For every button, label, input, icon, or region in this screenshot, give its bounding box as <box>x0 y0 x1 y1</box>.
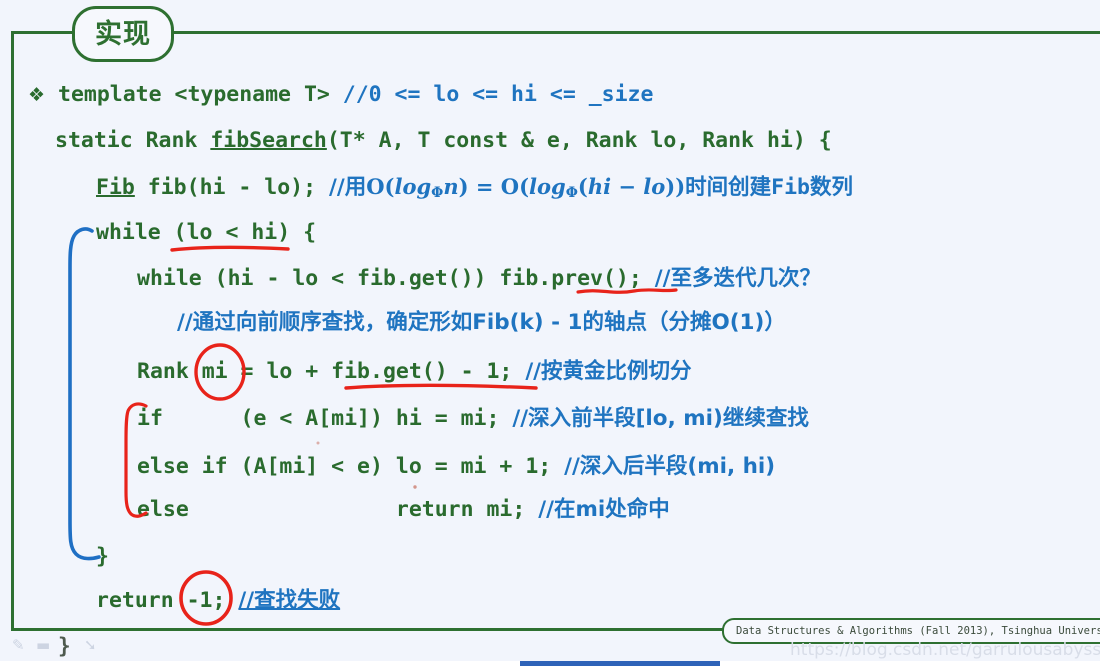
comment-text: //至多迭代几次？ <box>655 266 821 291</box>
code-line-return: return -1; //查找失败 <box>96 590 340 612</box>
bottom-progress-bar <box>520 661 720 666</box>
code-text: Rank mi = lo + fib.get() - 1; <box>137 359 525 384</box>
code-line-close-brace: } <box>96 546 109 568</box>
code-line-template: ❖ template <typename T> //0 <= lo <= hi … <box>28 84 653 106</box>
code-line-else-if: else if (A[mi] < e) lo = mi + 1; //深入后半段… <box>137 456 775 478</box>
code-text: while (lo < hi) { <box>96 220 316 245</box>
comment-text: //按黄金比例切分 <box>525 359 691 384</box>
csdn-watermark: https://blog.csdn.net/garrulousabyss <box>790 640 1100 660</box>
comment-text: //深入前半段[lo, mi)继续查找 <box>512 406 808 431</box>
code-line-rank-mi: Rank mi = lo + fib.get() - 1; //按黄金比例切分 <box>137 361 692 383</box>
pen-icon[interactable]: ✎ <box>12 636 25 654</box>
code-line-while-outer: while (lo < hi) { <box>96 222 316 244</box>
code-text: else return mi; <box>137 497 538 522</box>
code-text: } <box>96 544 109 569</box>
pointer-icon[interactable]: ➘ <box>84 636 97 654</box>
slide-canvas: 实现 ❖ template <typename T> //0 <= lo <= … <box>0 0 1100 666</box>
comment-text: //0 <= lo <= hi <= _size <box>343 82 654 107</box>
code-line-comment-pivot: //通过向前顺序查找，确定形如Fib(k) - 1的轴点（分摊O(1)） <box>177 312 786 334</box>
comment-text: //查找失败 <box>238 588 340 613</box>
code-text: (T* A, T const & e, Rank lo, Rank hi) { <box>327 128 832 153</box>
code-text: while (hi - lo < fib.get()) fib.prev(); <box>137 266 655 291</box>
comment-text: //在mi处命中 <box>538 497 669 522</box>
comment-fib-complexity: //用O(logΦn) = O(logΦ(hi − lo))时间创建Fib数列 <box>329 175 853 200</box>
eraser-icon[interactable]: ▬ <box>36 636 50 654</box>
code-text: static Rank <box>55 128 210 153</box>
comment-text: //通过向前顺序查找，确定形如Fib(k) - 1的轴点（分摊O(1)） <box>177 310 786 335</box>
code-line-if: if (e < A[mi]) hi = mi; //深入前半段[lo, mi)继… <box>137 408 809 430</box>
code-line-fib-decl: Fib fib(hi - lo); //用O(logΦn) = O(logΦ(h… <box>96 176 853 200</box>
code-text: fib(hi - lo); <box>135 175 329 200</box>
code-text: return -1; <box>96 588 238 613</box>
bullet-diamond-icon: ❖ <box>28 84 45 106</box>
code-text: if (e < A[mi]) hi = mi; <box>137 406 512 431</box>
code-line-while-inner: while (hi - lo < fib.get()) fib.prev(); … <box>137 268 821 290</box>
code-text: template <typename T> <box>58 82 343 107</box>
code-line-signature: static Rank fibSearch(T* A, T const & e,… <box>55 130 832 152</box>
comment-text: //深入后半段(mi, hi) <box>564 454 775 479</box>
code-line-else: else return mi; //在mi处命中 <box>137 499 670 521</box>
code-identifier-fibsearch: fibSearch <box>210 128 327 153</box>
code-identifier-fib: Fib <box>96 175 135 200</box>
code-text: else if (A[mi] < e) lo = mi + 1; <box>137 454 564 479</box>
footer-credit-text: Data Structures & Algorithms (Fall 2013)… <box>736 625 1100 637</box>
stray-closing-brace: } <box>58 634 71 658</box>
code-block: ❖ template <typename T> //0 <= lo <= hi … <box>0 0 1100 666</box>
